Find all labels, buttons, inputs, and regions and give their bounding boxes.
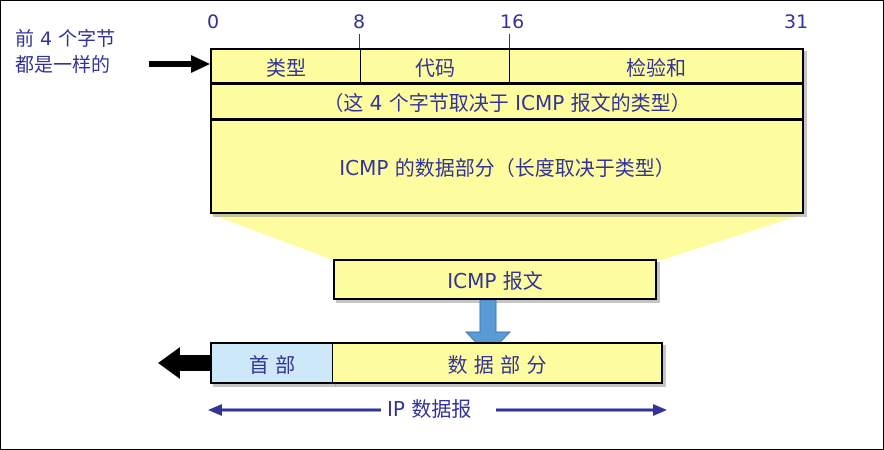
field-type-label: 类型 xyxy=(266,52,306,81)
ip-datagram-span-label: IP 数据报 xyxy=(387,398,471,421)
left-annotation-line1: 前 4 个字节 xyxy=(15,27,180,53)
field-code-label: 代码 xyxy=(415,52,455,81)
icmp-message-box: ICMP 报文 xyxy=(333,259,657,300)
ip-data-box: 数 据 部 分 xyxy=(332,342,663,384)
bit-tick-8: 8 xyxy=(353,11,365,33)
field-icmp-data-cell: ICMP 的数据部分（长度取决于类型） xyxy=(210,119,804,214)
ip-header-box: 首 部 xyxy=(210,342,333,384)
funnel-connector xyxy=(210,214,804,260)
bit-tick-0: 0 xyxy=(207,11,219,33)
field-variable-4bytes-cell: （这 4 个字节取决于 ICMP 报文的类型） xyxy=(210,83,804,120)
ip-header-label: 首 部 xyxy=(249,349,295,378)
icmp-message-label: ICMP 报文 xyxy=(447,265,543,294)
field-variable-4bytes-label: （这 4 个字节取决于 ICMP 报文的类型） xyxy=(323,87,690,116)
black-right-arrow-icon xyxy=(149,54,211,74)
bit-tick-mark-8 xyxy=(359,34,360,48)
field-checksum-label: 检验和 xyxy=(626,52,686,81)
bit-tick-31: 31 xyxy=(784,11,808,33)
bit-tick-mark-16 xyxy=(509,34,510,48)
field-type-cell: 类型 xyxy=(210,48,361,84)
black-left-arrow-icon xyxy=(158,345,214,381)
diagram-canvas: 前 4 个字节 都是一样的 0 8 16 31 类型 代码 检验和 （这 4 个… xyxy=(0,0,884,450)
field-icmp-data-label: ICMP 的数据部分（长度取决于类型） xyxy=(339,152,675,181)
field-code-cell: 代码 xyxy=(360,48,510,84)
field-checksum-cell: 检验和 xyxy=(509,48,804,84)
bit-tick-16: 16 xyxy=(500,11,524,33)
ip-data-label: 数 据 部 分 xyxy=(447,349,546,378)
